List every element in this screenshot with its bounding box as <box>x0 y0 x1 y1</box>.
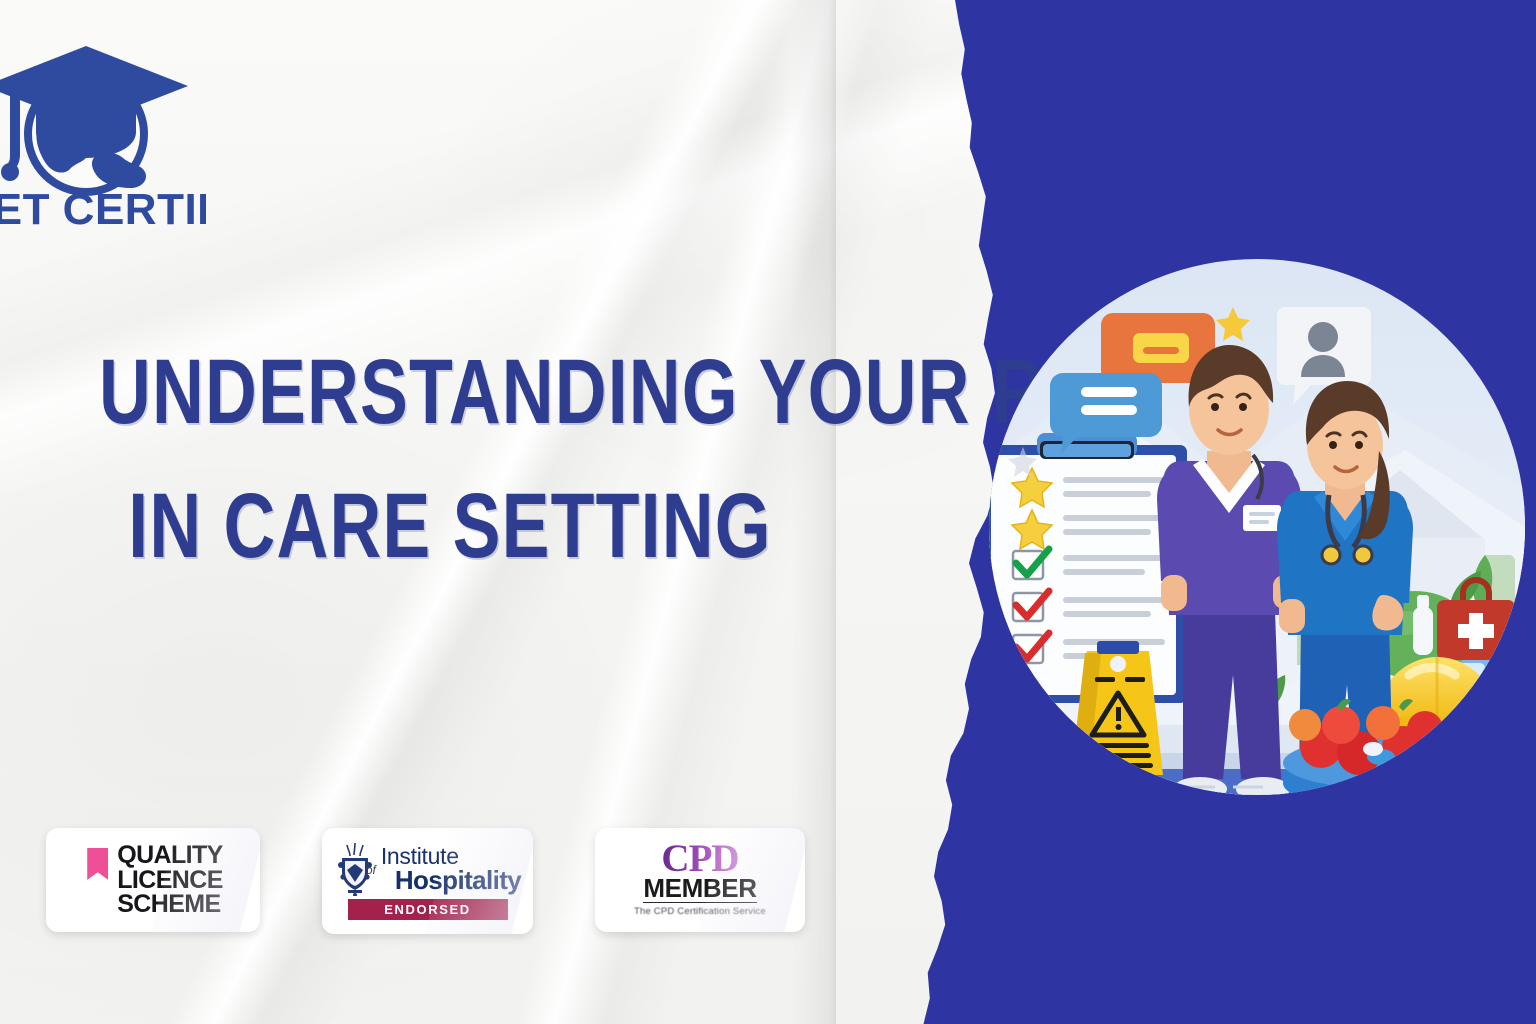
badge-institute-of-hospitality[interactable]: Institute of Hospitality ENDORSED <box>322 828 533 934</box>
green-checkmark <box>1013 549 1049 579</box>
logo-wordmark: GET CERTIFY <box>0 185 206 234</box>
red-checkmark-2 <box>1013 633 1049 663</box>
fruit-bowl <box>1283 699 1487 811</box>
qls-line-2: LICENCE <box>117 868 223 893</box>
cpd-member-label: MEMBER <box>643 875 756 903</box>
wet-floor-caution-sign <box>1071 641 1163 775</box>
cpd-wordmark: CPD <box>661 843 738 875</box>
ioh-word-hospitality: Hospitality <box>395 868 521 892</box>
title-line-2: IN CARE SETTING <box>99 480 801 572</box>
badge-cpd-member[interactable]: CPD MEMBER The CPD Certification Service <box>595 828 805 932</box>
qls-line-3: SCHEME <box>117 892 223 917</box>
banner-canvas: GET CERTIFY UNDERSTANDING YOUR ROLE IN C… <box>0 0 1536 1024</box>
red-checkmark-1 <box>1013 591 1049 621</box>
brand-logo[interactable]: GET CERTIFY <box>0 24 206 234</box>
title-line-1: UNDERSTANDING YOUR ROLE <box>99 346 801 438</box>
ioh-endorsed-ribbon: ENDORSED <box>348 899 508 920</box>
bookmark-ribbon-icon <box>87 848 108 880</box>
accreditation-badges: QUALITY LICENCE SCHEME <box>46 828 805 934</box>
scene-circle <box>985 255 1530 830</box>
qls-line-1: QUALITY <box>117 843 223 868</box>
page-title: UNDERSTANDING YOUR ROLE IN CARE SETTING <box>0 346 900 572</box>
care-workers-illustration <box>985 255 1530 830</box>
badge-quality-licence-scheme[interactable]: QUALITY LICENCE SCHEME <box>46 828 260 932</box>
cpd-subtitle: The CPD Certification Service <box>630 906 770 918</box>
graduation-cap-globe-icon: GET CERTIFY <box>0 24 206 234</box>
ioh-word-of: of <box>366 865 376 876</box>
